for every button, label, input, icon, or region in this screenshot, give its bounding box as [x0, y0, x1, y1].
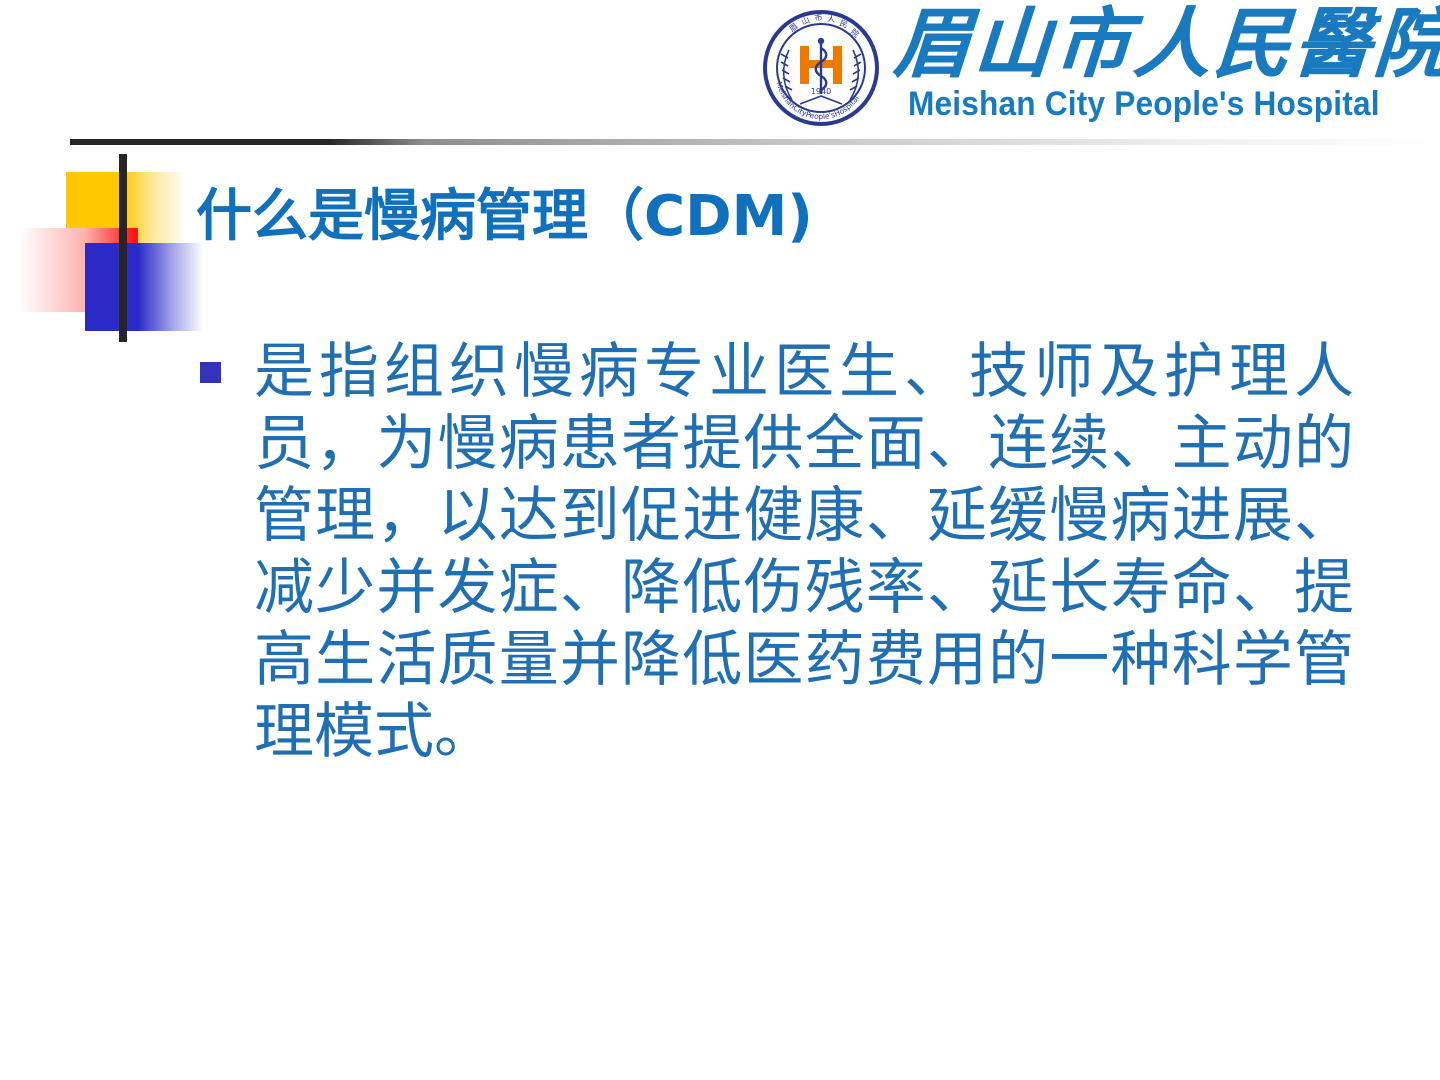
slide-canvas: 眉 山 市 人 民 院 MeishanCityPeople'sHospital [0, 0, 1440, 1080]
hospital-logo: 眉 山 市 人 民 院 MeishanCityPeople'sHospital [762, 4, 1426, 140]
svg-text:1940: 1940 [811, 87, 831, 96]
svg-text:市: 市 [814, 12, 824, 23]
title-decoration [0, 140, 520, 360]
hospital-name-group: 眉山市人民醫院 Meishan City People's Hospital [894, 4, 1440, 124]
hospital-emblem-icon: 眉 山 市 人 民 院 MeishanCityPeople'sHospital [762, 8, 880, 130]
hospital-name-en: Meishan City People's Hospital [908, 85, 1380, 124]
bullet-square-icon [200, 362, 221, 383]
svg-text:人: 人 [827, 14, 836, 24]
title-underline-rule [70, 139, 1430, 145]
deco-vertical-line [119, 154, 127, 342]
deco-square-blue [85, 243, 203, 331]
hospital-name-cn: 眉山市人民醫院 [891, 4, 1440, 83]
bullet-paragraph-text: 是指组织慢病专业医生、技师及护理人员，为慢病患者提供全面、连续、主动的管理，以达… [254, 336, 1354, 768]
page-title: 什么是慢病管理（CDM) [196, 186, 1376, 248]
bullet-list-item: 是指组织慢病专业医生、技师及护理人员，为慢病患者提供全面、连续、主动的管理，以达… [200, 336, 1380, 768]
